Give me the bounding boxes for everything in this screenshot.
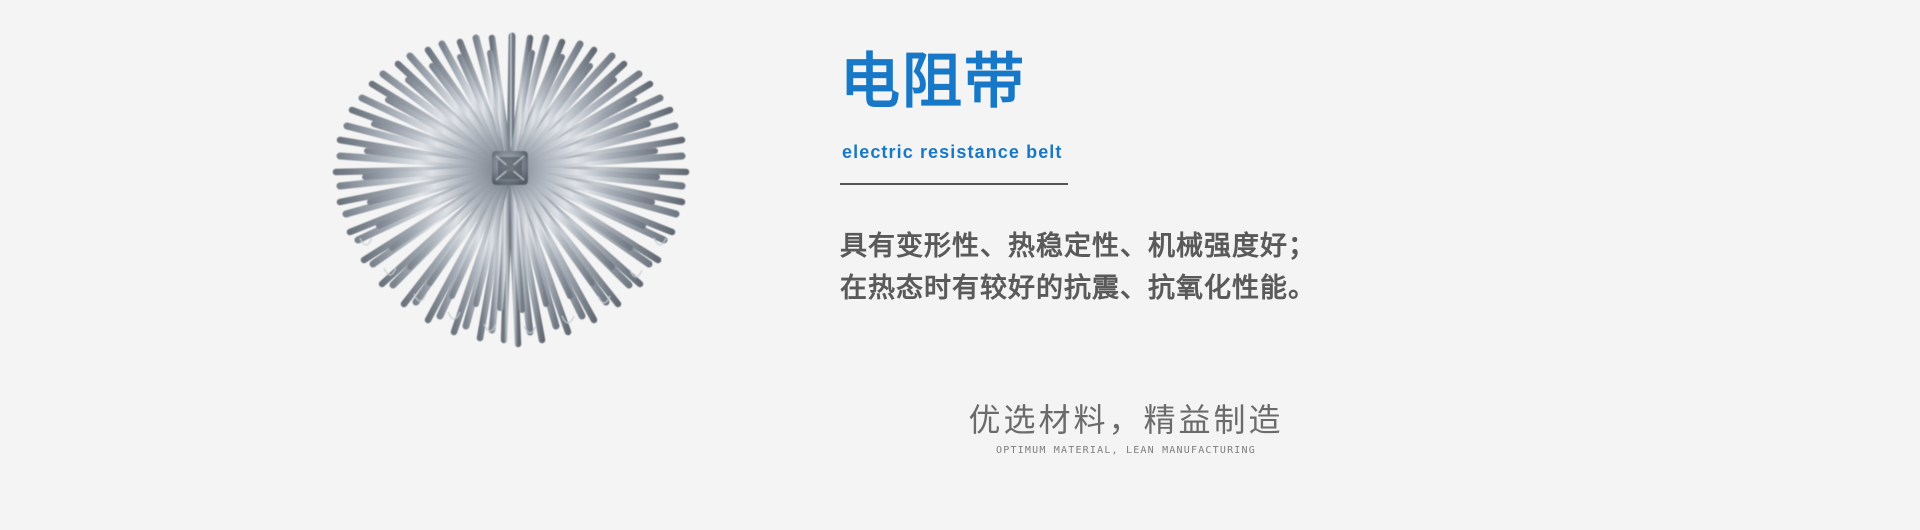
tagline-english: OPTIMUM MATERIAL, LEAN MANUFACTURING [946,444,1306,458]
product-image [300,28,720,428]
description-line-2: 在热态时有较好的抗震、抗氧化性能。 [840,267,1460,309]
page-subtitle-english: electric resistance belt [842,141,1063,163]
description-line-1: 具有变形性、热稳定性、机械强度好； [840,225,1460,267]
resistance-belt-illustration [300,28,720,428]
product-banner: 电阻带 electric resistance belt 具有变形性、热稳定性、… [0,0,1920,530]
tagline-chinese: 优选材料，精益制造 [946,398,1306,442]
banner-content: 电阻带 electric resistance belt 具有变形性、热稳定性、… [840,0,1540,530]
title-divider [840,183,1068,185]
product-description: 具有变形性、热稳定性、机械强度好； 在热态时有较好的抗震、抗氧化性能。 [840,225,1460,309]
tagline-block: 优选材料，精益制造 OPTIMUM MATERIAL, LEAN MANUFAC… [946,398,1306,458]
page-title: 电阻带 [840,48,1026,116]
